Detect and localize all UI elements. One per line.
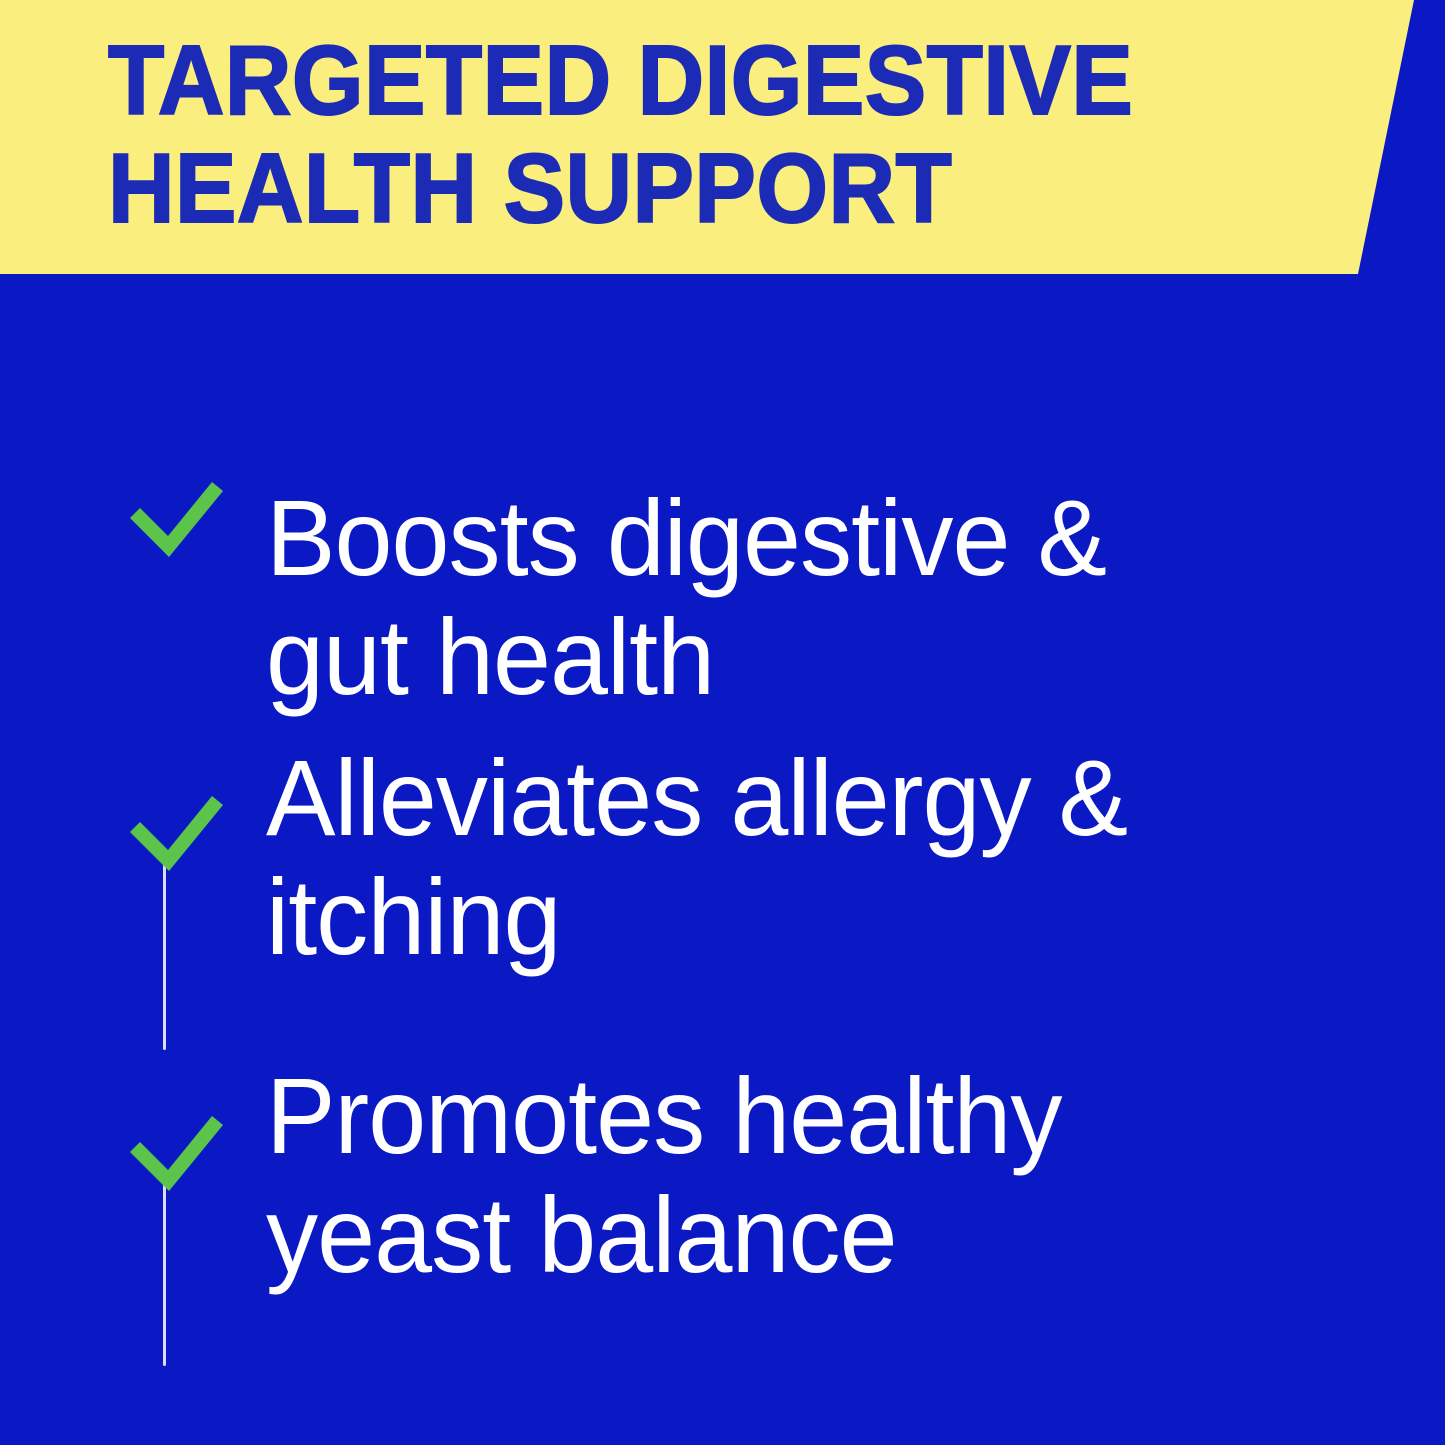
- connector-line: [163, 862, 166, 1050]
- header-banner: TARGETED DIGESTIVE HEALTH SUPPORT: [0, 0, 1420, 274]
- check-icon: [124, 1104, 228, 1194]
- benefit-label: Promotes healthy yeast balance: [266, 1056, 1241, 1294]
- benefit-label: Boosts digestive & gut health: [266, 478, 1241, 716]
- benefit-label-line-2: yeast balance: [266, 1175, 1241, 1294]
- benefit-label-line-1: Alleviates allergy &: [266, 738, 1241, 857]
- benefits-list: Boosts digestive & gut health Alleviates…: [0, 274, 1445, 1445]
- product-benefits-poster: TARGETED DIGESTIVE HEALTH SUPPORT Boosts…: [0, 0, 1445, 1445]
- check-icon: [124, 784, 228, 874]
- benefit-label: Alleviates allergy & itching: [266, 738, 1241, 976]
- page-title: TARGETED DIGESTIVE HEALTH SUPPORT: [108, 26, 1264, 242]
- connector-line: [163, 1180, 166, 1366]
- benefit-label-line-1: Promotes healthy: [266, 1056, 1241, 1175]
- benefit-label-line-2: itching: [266, 857, 1241, 976]
- benefit-label-line-1: Boosts digestive &: [266, 478, 1241, 597]
- check-icon: [124, 470, 228, 560]
- benefit-label-line-2: gut health: [266, 597, 1241, 716]
